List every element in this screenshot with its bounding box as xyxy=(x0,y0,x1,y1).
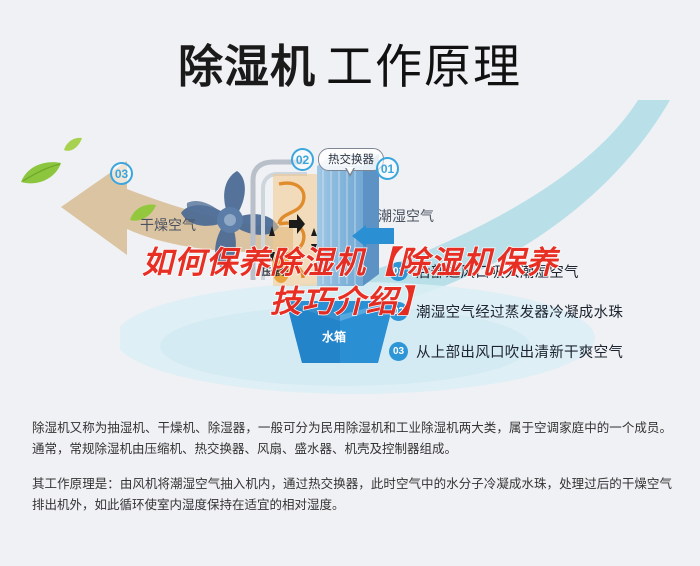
diagram-badge-03: 03 xyxy=(110,162,133,185)
principle-step-list: 01 后部进风口吸入潮湿空气 02 潮湿空气经过蒸发器冷凝成水珠 03 从上部出… xyxy=(389,258,623,378)
step-number-badge: 03 xyxy=(389,342,408,361)
page-title-primary: 除湿机 xyxy=(178,41,316,92)
inlet-air-arrow xyxy=(352,225,394,247)
dry-air-label: 干燥空气 xyxy=(140,215,196,235)
step-number-badge: 02 xyxy=(389,302,408,321)
step-text: 后部进风口吸入潮湿空气 xyxy=(416,261,579,282)
step-text: 从上部出风口吹出清新干爽空气 xyxy=(416,341,623,362)
diagram-badge-02: 02 xyxy=(291,148,314,171)
step-number-badge: 01 xyxy=(389,262,408,281)
list-item: 01 后部进风口吸入潮湿空气 xyxy=(389,258,623,284)
body-paragraph-2: 其工作原理是：由风机将潮湿空气抽入机内，通过热交换器，此时空气中的水分子冷凝成水… xyxy=(32,474,672,516)
compressor-label: 压缩机 xyxy=(262,265,289,278)
page-title: 除湿机工作原理 xyxy=(0,28,700,97)
page-title-secondary: 工作原理 xyxy=(326,40,522,93)
humid-air-label: 潮湿空气 xyxy=(378,206,434,226)
body-paragraph-1: 除湿机又称为抽湿机、干燥机、除湿器，一般可分为民用除湿机和工业除湿机两大类，属于… xyxy=(32,418,672,460)
step-text: 潮湿空气经过蒸发器冷凝成水珠 xyxy=(416,301,623,322)
article-body: 除湿机又称为抽湿机、干燥机、除湿器，一般可分为民用除湿机和工业除湿机两大类，属于… xyxy=(32,418,672,516)
dehumidifier-principle-diagram: 压缩机 水箱 03 干燥空气 02 热交换器 01 潮湿空气 01 后部进风口吸… xyxy=(0,110,700,395)
list-item: 02 潮湿空气经过蒸发器冷凝成水珠 xyxy=(389,298,623,324)
water-tank-label: 水箱 xyxy=(322,328,346,345)
diagram-badge-01: 01 xyxy=(376,157,399,180)
callout-tail-icon xyxy=(345,168,355,177)
list-item: 03 从上部出风口吹出清新干爽空气 xyxy=(389,338,623,364)
